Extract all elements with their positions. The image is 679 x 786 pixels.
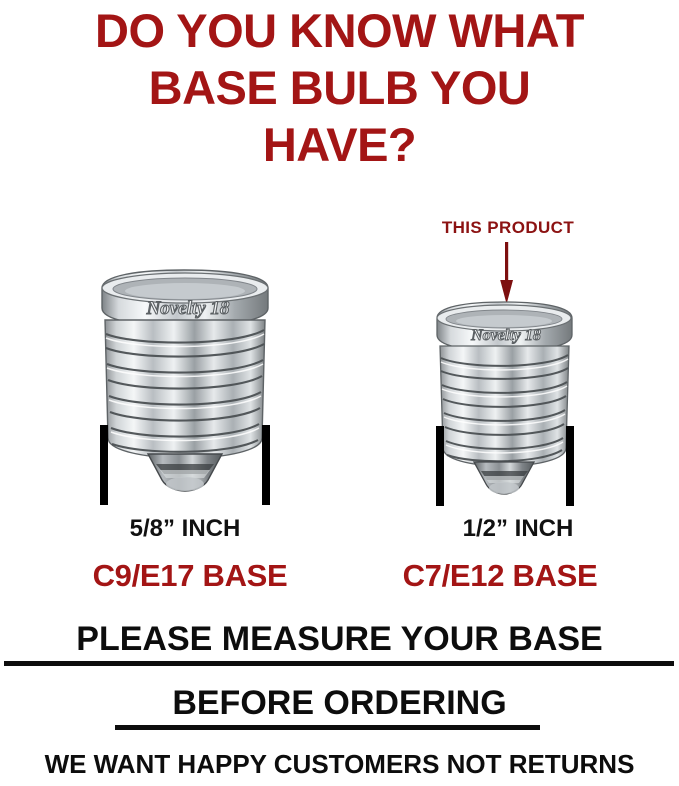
- bulb-right-emboss: Novelty 18: [470, 327, 541, 344]
- base-label-left: C9/E17 BASE: [30, 558, 350, 594]
- bulb-left-image: Novelty 18: [96, 268, 276, 498]
- bulb-left-emboss: Novelty 18: [146, 298, 230, 319]
- this-product-label: THIS PRODUCT: [418, 218, 598, 238]
- footer-rule-1: [4, 661, 674, 666]
- measure-tick-right: [262, 425, 270, 505]
- measure-tick-right: [566, 426, 574, 506]
- bulb-left-c9e17: Novelty 18: [96, 268, 276, 498]
- down-arrow-icon: [495, 242, 519, 304]
- measure-tick-left: [436, 426, 444, 506]
- footer-rule-2: [115, 725, 540, 730]
- footer-line-2: BEFORE ORDERING: [0, 684, 679, 723]
- measurement-label-left: 5/8” INCH: [55, 515, 315, 543]
- measurement-label-right: 1/2” INCH: [388, 515, 648, 543]
- headline-line-2: BASE BULB YOU: [0, 59, 679, 116]
- bulb-right-c7e12: Novelty 18: [432, 300, 578, 500]
- infographic-canvas: DO YOU KNOW WHAT BASE BULB YOU HAVE? THI…: [0, 0, 679, 786]
- bulb-right-image: Novelty 18: [432, 300, 578, 500]
- base-label-right: C7/E12 BASE: [340, 558, 660, 594]
- footer-line-3: WE WANT HAPPY CUSTOMERS NOT RETURNS: [0, 749, 679, 780]
- measure-tick-left: [100, 425, 108, 505]
- headline-line-1: DO YOU KNOW WHAT: [0, 2, 679, 59]
- headline-line-3: HAVE?: [0, 116, 679, 173]
- footer-line-1: PLEASE MEASURE YOUR BASE: [0, 620, 679, 659]
- page-title: DO YOU KNOW WHAT BASE BULB YOU HAVE?: [0, 2, 679, 173]
